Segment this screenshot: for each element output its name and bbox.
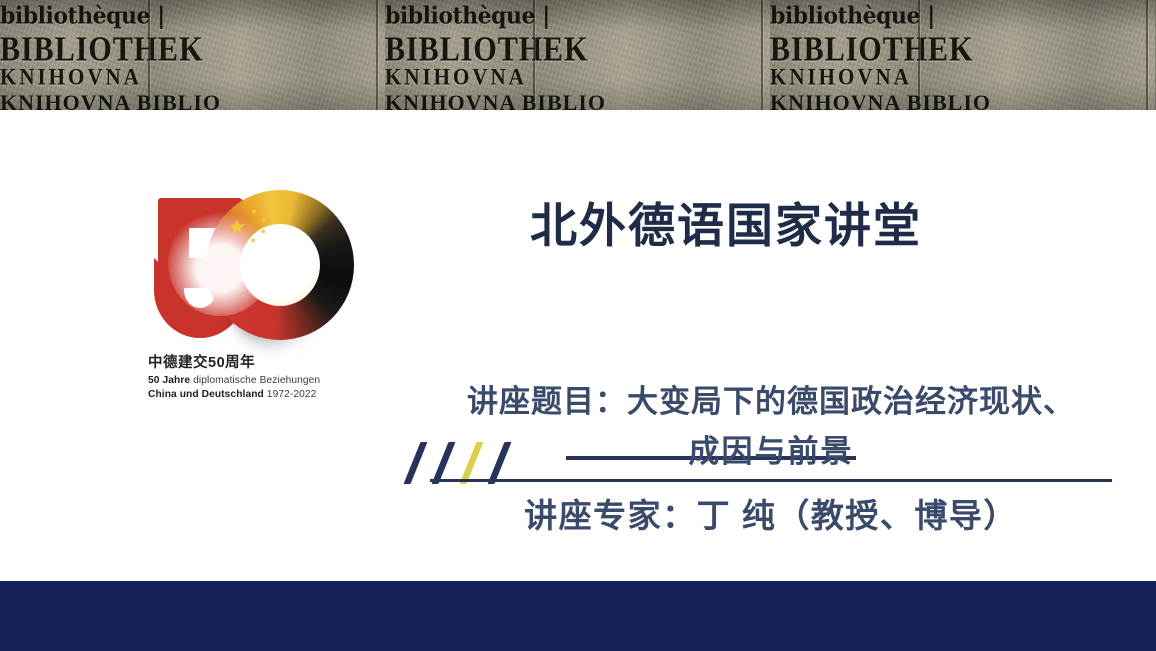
logo-caption-german-line1-rest: diplomatische Beziehungen — [190, 375, 320, 386]
banner-text-bibliothek: BIBLIOTHEK — [385, 33, 770, 68]
anniversary-logo: ★ ★ ★ ★ ★ 中德建交50周年 50 Jahre diplomatisch… — [138, 188, 353, 418]
lecture-speaker-block: 讲座专家：丁 纯（教授、博导） — [430, 491, 1112, 541]
logo-caption-german-line1-bold: 50 Jahre — [148, 375, 190, 386]
banner-tile: bibliothèque | BIBLIOTHEK KNIHOVNA KNIHO… — [770, 0, 1155, 110]
lecture-subject-line-1: 讲座题目：大变局下的德国政治经济现状、 — [430, 377, 1112, 427]
banner-text-bibliotheque: bibliothèque | — [385, 4, 770, 28]
footer-bar — [0, 581, 1156, 651]
banner-tile: bibliothèque | BIBLIOTHEK KNIHOVNA KNIHO… — [385, 0, 770, 110]
stone-seam — [148, 0, 150, 110]
main-content-area: ★ ★ ★ ★ ★ 中德建交50周年 50 Jahre diplomatisch… — [0, 110, 1156, 581]
banner-text-knihovna: KNIHOVNA — [385, 66, 770, 89]
banner-text-bibliotheque: bibliothèque | — [0, 4, 385, 28]
logo-caption-german-line2-bold: China und Deutschland — [148, 389, 264, 400]
logo-caption: 中德建交50周年 50 Jahre diplomatische Beziehun… — [138, 354, 353, 403]
logo-caption-german-line1: 50 Jahre diplomatische Beziehungen — [148, 374, 353, 389]
logo-caption-german-line2: China und Deutschland 1972-2022 — [148, 388, 353, 403]
page-title: 北外德语国家讲堂 — [530, 202, 1130, 249]
stone-seam — [761, 0, 763, 110]
logo-mark-50: ★ ★ ★ ★ ★ — [146, 188, 346, 348]
banner-text-partial: KNIHOVNA BIBLIO — [385, 92, 770, 110]
banner-text-partial: KNIHOVNA BIBLIO — [770, 92, 1155, 110]
banner-text-bibliothek: BIBLIOTHEK — [770, 33, 1155, 68]
lecture-subject-block: 讲座题目：大变局下的德国政治经济现状、 成因与前景 — [430, 377, 1112, 477]
banner-text-partial: KNIHOVNA BIBLIO — [0, 92, 385, 110]
stone-seam — [533, 0, 535, 110]
slash-mark-1 — [404, 442, 428, 484]
banner-tile: bibliothèque | BIBLIOTHEK KNIHOVNA KNIHO… — [0, 0, 385, 110]
stone-seam — [376, 0, 378, 110]
banner-text-bibliotheque: bibliothèque | — [770, 4, 1155, 28]
logo-digit-zero-ring — [206, 190, 354, 340]
banner-text-knihovna: KNIHOVNA — [0, 66, 385, 89]
stone-seam — [1146, 0, 1148, 110]
banner-text-knihovna: KNIHOVNA — [770, 66, 1155, 89]
logo-caption-german-line2-rest: 1972-2022 — [264, 389, 317, 400]
speaker-divider-rule — [430, 479, 1112, 482]
stone-seam — [918, 0, 920, 110]
banner-text-bibliothek: BIBLIOTHEK — [0, 33, 385, 68]
header-banner: bibliothèque | BIBLIOTHEK KNIHOVNA KNIHO… — [0, 0, 1156, 110]
lecture-speaker-line: 讲座专家：丁 纯（教授、博导） — [430, 491, 1112, 541]
logo-caption-chinese: 中德建交50周年 — [148, 354, 353, 374]
logo-zero-hole — [240, 224, 320, 306]
lecture-subject-line-2: 成因与前景 — [430, 427, 1112, 477]
